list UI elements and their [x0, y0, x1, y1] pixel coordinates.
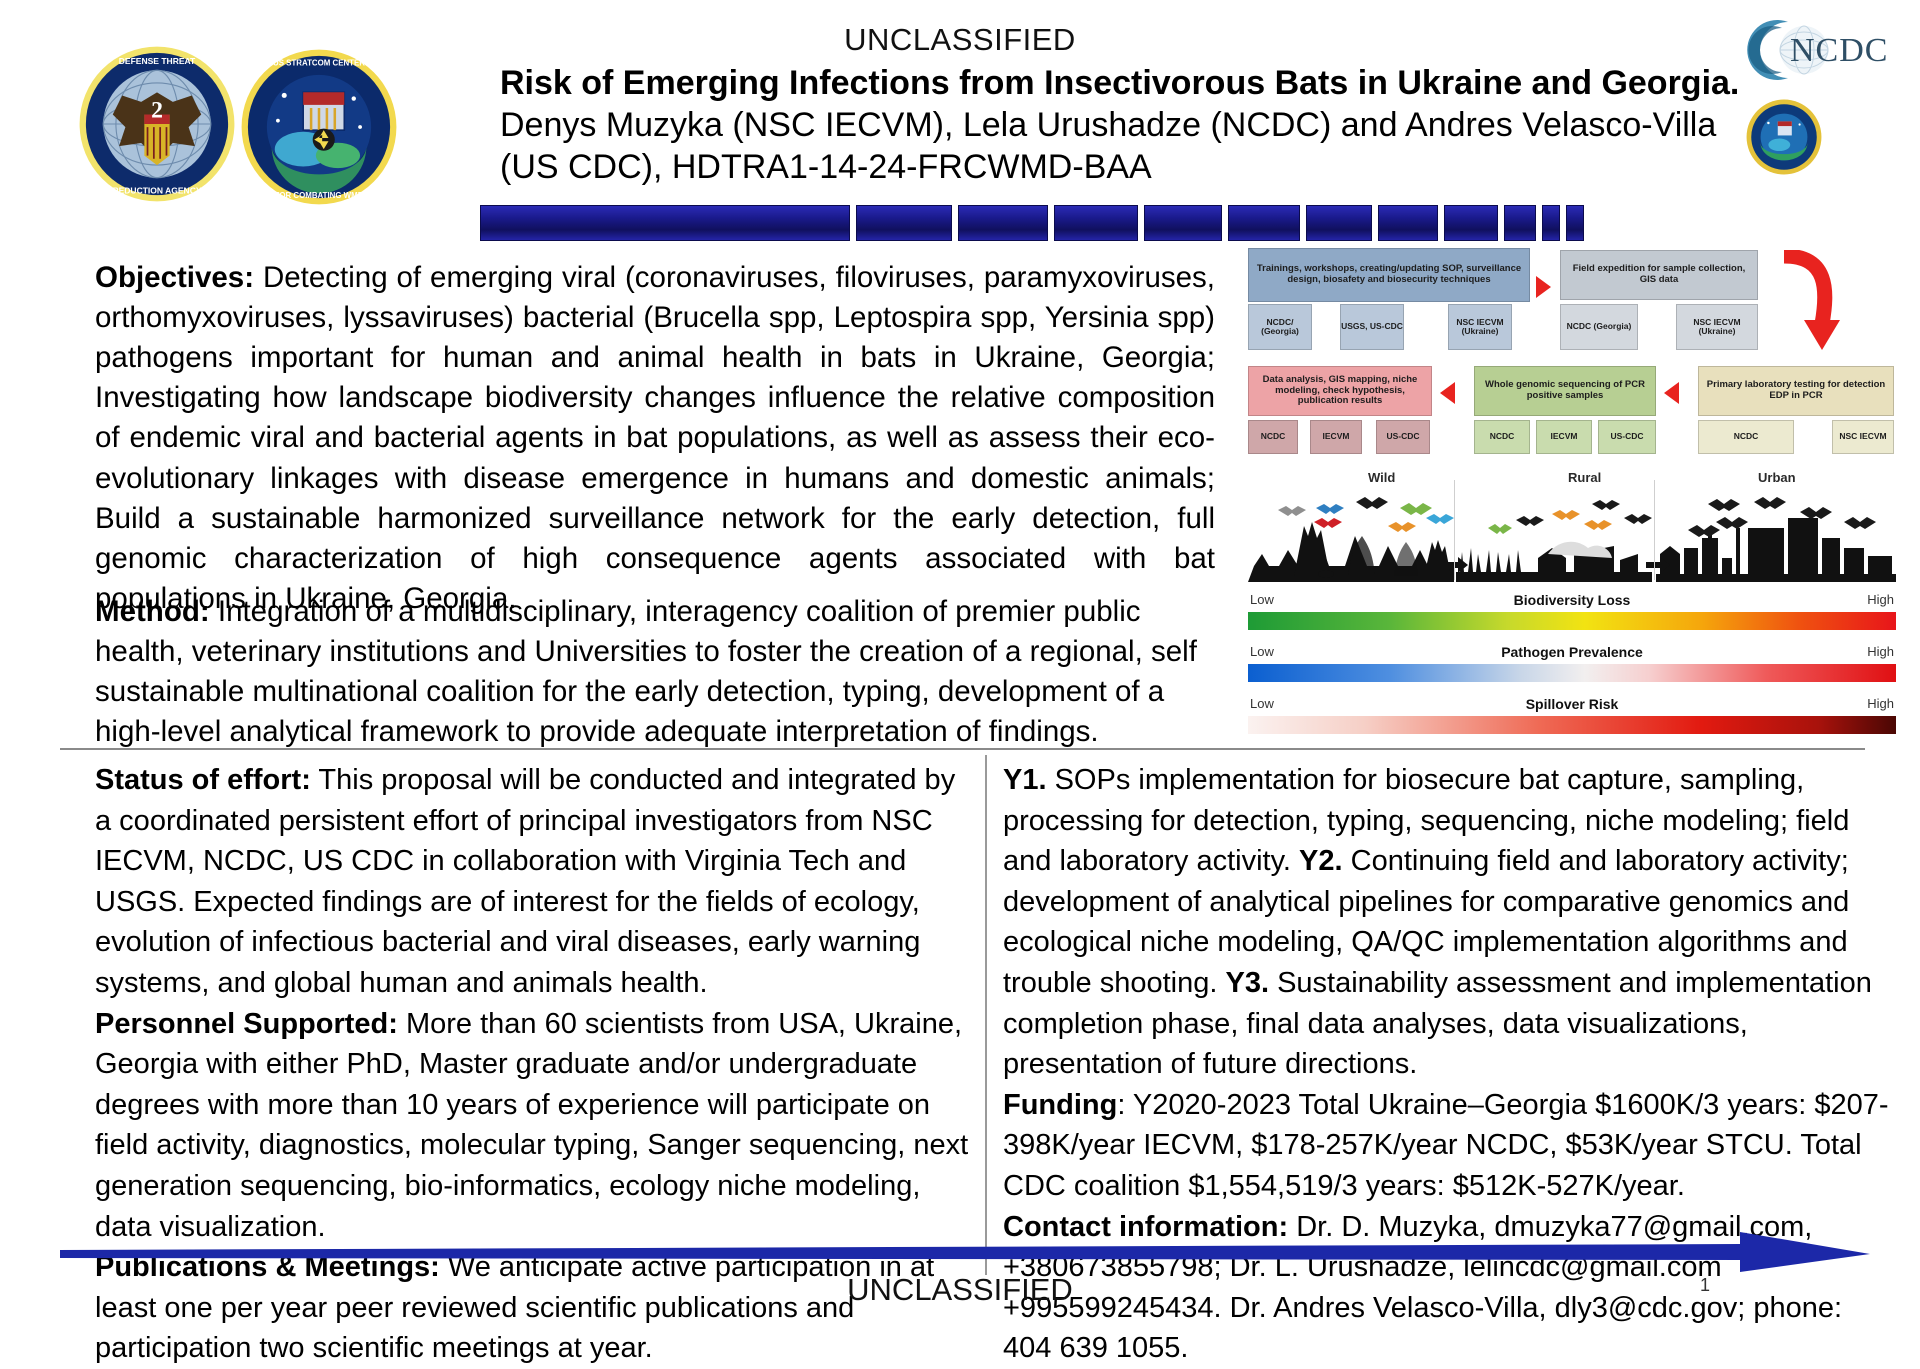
gradient-pathogen-prevalence: Low Pathogen Prevalence High: [1248, 644, 1896, 682]
flow-node-wgs-title: Whole genomic sequencing of PCR positive…: [1474, 366, 1656, 416]
personnel-supported-paragraph: Personnel Supported: More than 60 scient…: [95, 1004, 975, 1248]
timeline-paragraph: Y1. SOPs implementation for biosecure ba…: [1003, 760, 1893, 1085]
flow-arrow-curved-down: [1770, 250, 1850, 356]
status-body: This proposal will be conducted and inte…: [95, 764, 955, 999]
svg-text:FOR COMBATING WMD: FOR COMBATING WMD: [275, 191, 364, 200]
flow-node-data-analysis-title: Data analysis, GIS mapping, niche modeli…: [1248, 366, 1432, 416]
habitat-silhouette-image: [1248, 488, 1896, 582]
page-number: 1: [1700, 1275, 1710, 1296]
svg-text:DEFENSE THREAT: DEFENSE THREAT: [119, 56, 196, 66]
flow-arrow-right-1: [1536, 276, 1551, 298]
flow-node-trainings-title: Trainings, workshops, creating/updating …: [1248, 248, 1530, 302]
flow-node-data-analysis-partner-1: IECVM: [1310, 420, 1362, 454]
scene-label-urban: Urban: [1758, 470, 1796, 485]
gradient-bar-spillover: [1248, 716, 1896, 734]
method-paragraph: Method: Integration of a multidisciplina…: [95, 592, 1225, 752]
flow-node-wgs-partner-0: NCDC: [1474, 420, 1530, 454]
flow-node-trainings-partner-2: NSC IECVM (Ukraine): [1448, 304, 1512, 350]
y2-label: Y2.: [1299, 845, 1343, 877]
gradient-title-2: Spillover Risk: [1248, 696, 1896, 712]
flow-node-trainings-partner-0: NCDC/ (Georgia): [1248, 304, 1312, 350]
gradient-title-0: Biodiversity Loss: [1248, 592, 1896, 608]
header-bar-segment-11: [1566, 205, 1584, 241]
header-bar-segment-6: [1306, 205, 1372, 241]
header-bar-segment-7: [1378, 205, 1438, 241]
flow-node-field-partner-1: NSC IECVM (Ukraine): [1676, 304, 1758, 350]
status-of-effort-paragraph: Status of effort: This proposal will be …: [95, 760, 975, 1004]
flow-arrow-left-1: [1440, 382, 1455, 404]
y1-label: Y1.: [1003, 764, 1047, 796]
header-bar-segment-9: [1504, 205, 1536, 241]
flow-node-primary-lab-partner-1: NSC IECVM: [1832, 420, 1894, 454]
objectives-label: Objectives:: [95, 261, 254, 294]
header-bar-segment-4: [1144, 205, 1222, 241]
usstratcom-seal-icon: US STRATCOM CENTER FOR COMBATING WMD: [240, 48, 398, 206]
panel-divider-1: [1454, 480, 1455, 580]
gradient-high-label-2: High: [1867, 696, 1894, 711]
funding-body: : Y2020-2023 Total Ukraine–Georgia $1600…: [1003, 1089, 1889, 1202]
personnel-body: More than 60 scientists from USA, Ukrain…: [95, 1008, 968, 1243]
scene-label-wild: Wild: [1368, 470, 1395, 485]
scene-label-rural: Rural: [1568, 470, 1601, 485]
method-label: Method:: [95, 595, 210, 628]
flow-node-trainings-partner-1: USGS, US-CDC: [1340, 304, 1404, 350]
objectives-body: Detecting of emerging viral (coronavirus…: [95, 261, 1215, 615]
page-title: Risk of Emerging Infections from Insecti…: [500, 62, 1740, 188]
flow-node-data-analysis-partner-2: US-CDC: [1376, 420, 1430, 454]
title-authors-part: Denys Muzyka (NSC IECVM), Lela Urushadze…: [500, 106, 1716, 186]
gradient-high-label-1: High: [1867, 644, 1894, 659]
classification-banner-top: UNCLASSIFIED: [0, 22, 1920, 58]
gradient-biodiversity-loss: Low Biodiversity Loss High: [1248, 592, 1896, 630]
classification-banner-bottom: UNCLASSIFIED: [0, 1272, 1920, 1308]
status-label: Status of effort:: [95, 764, 311, 796]
flow-arrow-left-2: [1664, 382, 1679, 404]
header-bar-segment-2: [958, 205, 1048, 241]
slide-root: UNCLASSIFIED 2 DEFENSE THREAT REDUCTION …: [0, 0, 1920, 1317]
personnel-label: Personnel Supported:: [95, 1008, 398, 1040]
landscape-gradient-illustration: Wild Rural Urban: [1248, 472, 1896, 582]
gradient-spillover-risk: Low Spillover Risk High: [1248, 696, 1896, 734]
ncdc-logo-label: NCDC: [1790, 32, 1888, 70]
flow-node-primary-lab-title: Primary laboratory testing for detection…: [1698, 366, 1894, 416]
flow-node-field-partner-0: NCDC (Georgia): [1560, 304, 1638, 350]
dtra-seal-icon: 2 DEFENSE THREAT REDUCTION AGENCY: [78, 45, 236, 203]
flow-node-primary-lab-partner-0: NCDC: [1698, 420, 1794, 454]
partner-seal-icon: [1745, 98, 1823, 176]
flow-node-wgs-partner-2: US-CDC: [1598, 420, 1656, 454]
panel-divider-2: [1654, 480, 1655, 580]
flow-node-wgs-partner-1: IECVM: [1536, 420, 1592, 454]
objectives-paragraph: Objectives: Detecting of emerging viral …: [95, 258, 1215, 619]
header-bar-segment-8: [1444, 205, 1498, 241]
svg-text:REDUCTION AGENCY: REDUCTION AGENCY: [112, 186, 201, 196]
title-bold-part: Risk of Emerging Infections from Insecti…: [500, 64, 1739, 102]
vertical-divider: [985, 755, 987, 1275]
flow-node-field-title: Field expedition for sample collection, …: [1560, 250, 1758, 300]
gradient-bar-pathogen: [1248, 664, 1896, 682]
header-bar-segment-1: [856, 205, 952, 241]
flow-node-data-analysis-partner-0: NCDC: [1248, 420, 1298, 454]
header-bar-segment-3: [1054, 205, 1138, 241]
svg-text:2: 2: [151, 98, 163, 124]
funding-paragraph: Funding: Y2020-2023 Total Ukraine–Georgi…: [1003, 1085, 1893, 1207]
header-bar-segment-5: [1228, 205, 1300, 241]
header-decorative-bars: [480, 205, 1584, 241]
gradient-bar-biodiversity: [1248, 612, 1896, 630]
svg-text:US STRATCOM CENTER: US STRATCOM CENTER: [273, 58, 365, 67]
gradient-title-1: Pathogen Prevalence: [1248, 644, 1896, 660]
horizontal-divider: [60, 748, 1865, 750]
method-body: Integration of a multidisciplinary, inte…: [95, 595, 1197, 748]
header-bar-segment-10: [1542, 205, 1560, 241]
header-bar-segment-0: [480, 205, 850, 241]
funding-label: Funding: [1003, 1089, 1117, 1121]
blue-sweep-arrow-icon: [60, 1230, 1870, 1274]
gradient-high-label-0: High: [1867, 592, 1894, 607]
y3-label: Y3.: [1225, 967, 1269, 999]
